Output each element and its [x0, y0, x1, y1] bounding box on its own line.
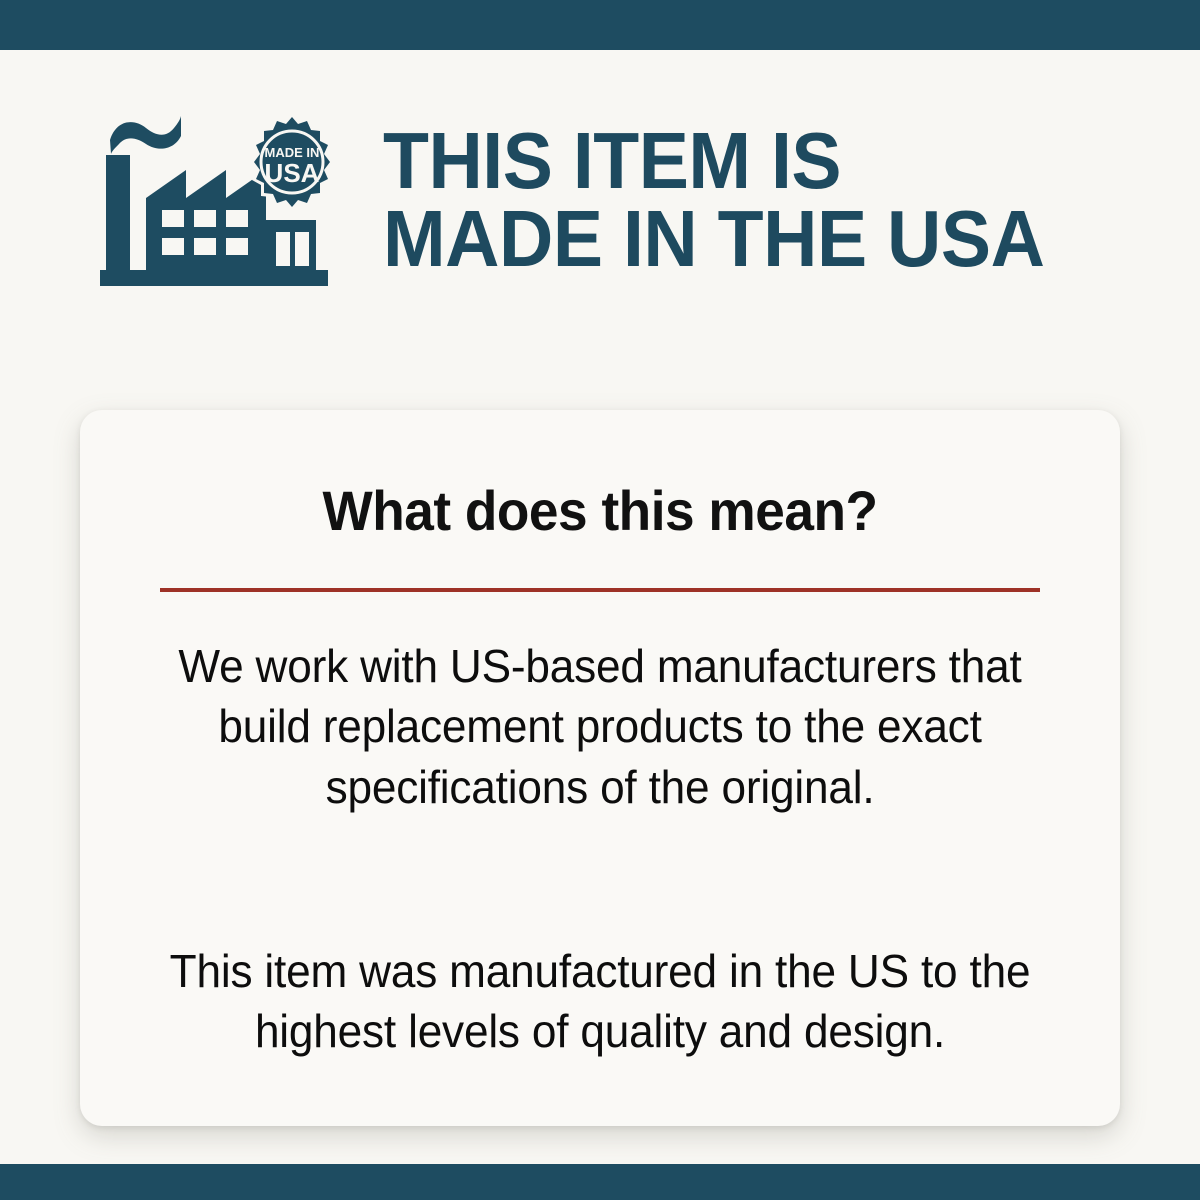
- page-canvas: MADE IN USA THIS ITEM IS MADE IN THE USA…: [0, 50, 1200, 1164]
- red-divider: [160, 588, 1040, 592]
- card-heading: What does this mean?: [106, 410, 1094, 543]
- card-body: We work with US-based manufacturers that…: [140, 636, 1060, 1061]
- explanation-paragraph-2: This item was manufactured in the US to …: [158, 941, 1041, 1062]
- factory-made-in-usa-icon: MADE IN USA: [100, 110, 335, 290]
- page-title: THIS ITEM IS MADE IN THE USA: [383, 122, 1044, 279]
- header: MADE IN USA THIS ITEM IS MADE IN THE USA: [100, 105, 1160, 295]
- explanation-paragraph-1: We work with US-based manufacturers that…: [158, 636, 1041, 817]
- top-accent-bar: [0, 0, 1200, 50]
- bottom-accent-bar: [0, 1164, 1200, 1200]
- info-card: What does this mean? We work with US-bas…: [80, 410, 1120, 1126]
- badge-line-2: USA: [265, 158, 320, 188]
